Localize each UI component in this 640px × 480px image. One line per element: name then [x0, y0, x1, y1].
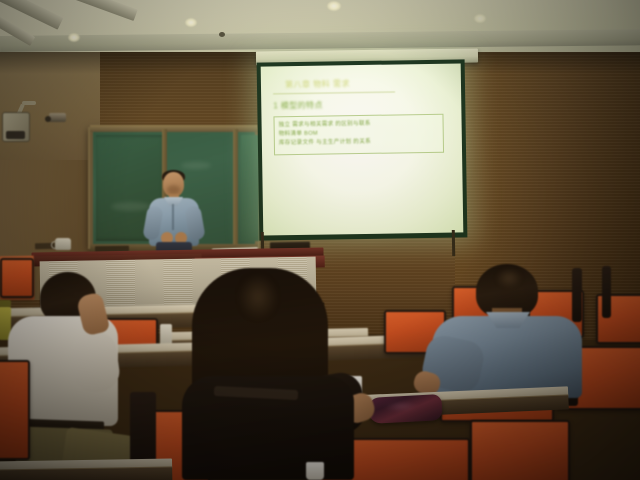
wall-speaker-icon [2, 112, 30, 142]
ceiling-downlight-icon [68, 33, 80, 42]
auditorium-chair[interactable] [0, 360, 30, 460]
slide-title: 第八章 物料 需求 [285, 76, 405, 91]
chalk-smudge [181, 162, 211, 169]
handbag-icon [367, 394, 442, 424]
ceiling-sensor-icon [219, 32, 225, 37]
slide-text-box: 独立 需求与相关需求 的区别与联系 物料清单 BOM 库存记录文件 与主生产计划… [273, 114, 444, 156]
hair-highlight [238, 274, 278, 320]
chalkboard-panel-right[interactable] [241, 135, 259, 241]
presenter-face-shadow [167, 185, 180, 194]
slide-content: 第八章 物料 需求 1 模型的特点 独立 需求与相关需求 的区别与联系 物料清单… [271, 72, 453, 226]
ceiling-downlight-icon [474, 14, 486, 23]
projection-screen[interactable]: 第八章 物料 需求 1 模型的特点 独立 需求与相关需求 的区别与联系 物料清单… [257, 59, 468, 240]
seated-woman-long-hair [178, 268, 368, 480]
hair-highlight [496, 268, 522, 288]
screen-surface: 第八章 物料 需求 1 模型的特点 独立 需求与相关需求 的区别与联系 物料清单… [261, 63, 464, 235]
screen-support-right [452, 230, 455, 256]
ceiling-downlight-icon [327, 1, 341, 11]
presenter [143, 172, 205, 254]
slide-bullet: 物料清单 BOM [279, 129, 334, 138]
classroom-scene: 第八章 物料 需求 1 模型的特点 独立 需求与相关需求 的区别与联系 物料清单… [0, 0, 640, 480]
chalkboard-divider [233, 129, 238, 247]
desk-front-panel [0, 467, 172, 480]
presenter-shirt-placket [172, 204, 174, 230]
slide-bullet: 库存记录文件 与主生产计划 的关系 [279, 137, 439, 148]
auditorium-chair[interactable] [470, 420, 570, 480]
slide-heading: 1 模型的特点 [273, 99, 363, 112]
chair-frame-post [602, 266, 611, 318]
kettle-icon [55, 238, 71, 250]
ceiling-downlight-icon [185, 18, 197, 27]
slide-title-underline [273, 91, 395, 94]
slide-bullet: 独立 需求与相关需求 的区别与联系 [279, 119, 439, 130]
wall-camera-icon [49, 113, 66, 122]
paper-cup-icon [306, 462, 324, 480]
bag-highlight [384, 400, 418, 412]
